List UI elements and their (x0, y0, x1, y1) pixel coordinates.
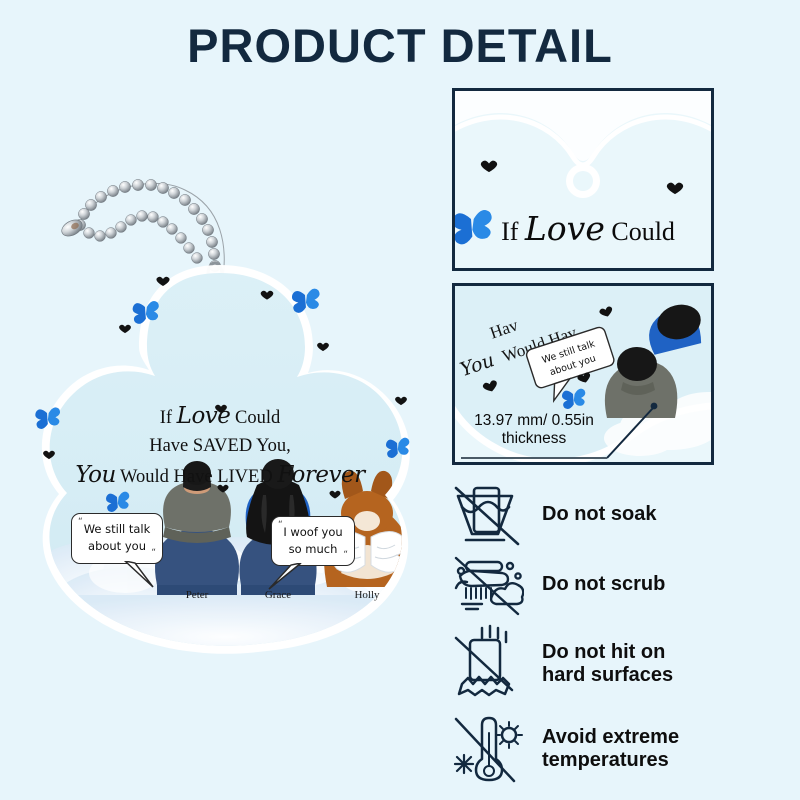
paw-shape (5, 255, 435, 675)
speech-bubble-person: “ We still talk about you “ (71, 513, 163, 564)
care-row-no-soak: Do not soak (452, 482, 782, 548)
no-scrub-icon (452, 552, 524, 618)
no-impact-icon (452, 622, 524, 706)
quote-open-mark: “ (278, 519, 283, 532)
care-label-no-temperature: Avoid extreme temperatures (542, 726, 679, 772)
page-title: PRODUCT DETAIL (0, 18, 800, 73)
detail-panel-thickness: Hav You Would Hav We still talk about yo… (452, 283, 714, 465)
care-label-no-temperature-text: Avoid extreme temperatures (542, 726, 679, 771)
thickness-label: 13.97 mm/ 0.55in thickness (459, 412, 609, 449)
quote-open-mark: “ (78, 516, 83, 529)
care-instructions: Do not soak (452, 482, 782, 792)
product-image: If Love Could Have SAVED You, You Would … (0, 160, 445, 680)
speech-bubble-person-text: We still talk about you (84, 522, 151, 553)
thickness-word: thickness (459, 430, 609, 448)
figure-name-holly: Holly (337, 589, 397, 601)
care-row-no-temperature: Avoid extreme temperatures (452, 710, 782, 788)
care-label-no-soak: Do not soak (542, 503, 656, 526)
acrylic-paw-ornament: If Love Could Have SAVED You, You Would … (5, 255, 435, 675)
closeup-caption: If Love Could (463, 209, 713, 248)
quote-close-mark: “ (151, 547, 156, 560)
closeup-caption-script: Love (525, 209, 605, 248)
closeup-caption-pre: If (501, 217, 525, 246)
speech-bubble-dog-text: I woof you so much (283, 525, 342, 556)
thickness-value: 13.97 mm/ 0.55in (459, 412, 609, 430)
no-soak-icon (452, 482, 524, 548)
care-row-no-impact: Do not hit on hard surfaces (452, 622, 782, 706)
product-detail-page: PRODUCT DETAIL (0, 0, 800, 800)
figure-name-peter: Peter (167, 589, 227, 601)
figure-name-grace: Grace (248, 589, 308, 601)
closeup-caption-post: Could (605, 217, 675, 246)
quote-close-mark: “ (343, 549, 348, 562)
care-label-no-impact: Do not hit on hard surfaces (542, 641, 673, 687)
no-temperature-icon (452, 710, 524, 788)
detail-panel-top-closeup: If Love Could (452, 88, 714, 271)
care-row-no-scrub: Do not scrub (452, 552, 782, 618)
care-label-no-scrub: Do not scrub (542, 573, 665, 596)
speech-bubble-person-tail (123, 561, 163, 593)
speech-bubble-dog: “ I woof you so much “ (271, 516, 355, 566)
care-label-no-impact-text: Do not hit on hard surfaces (542, 641, 673, 686)
